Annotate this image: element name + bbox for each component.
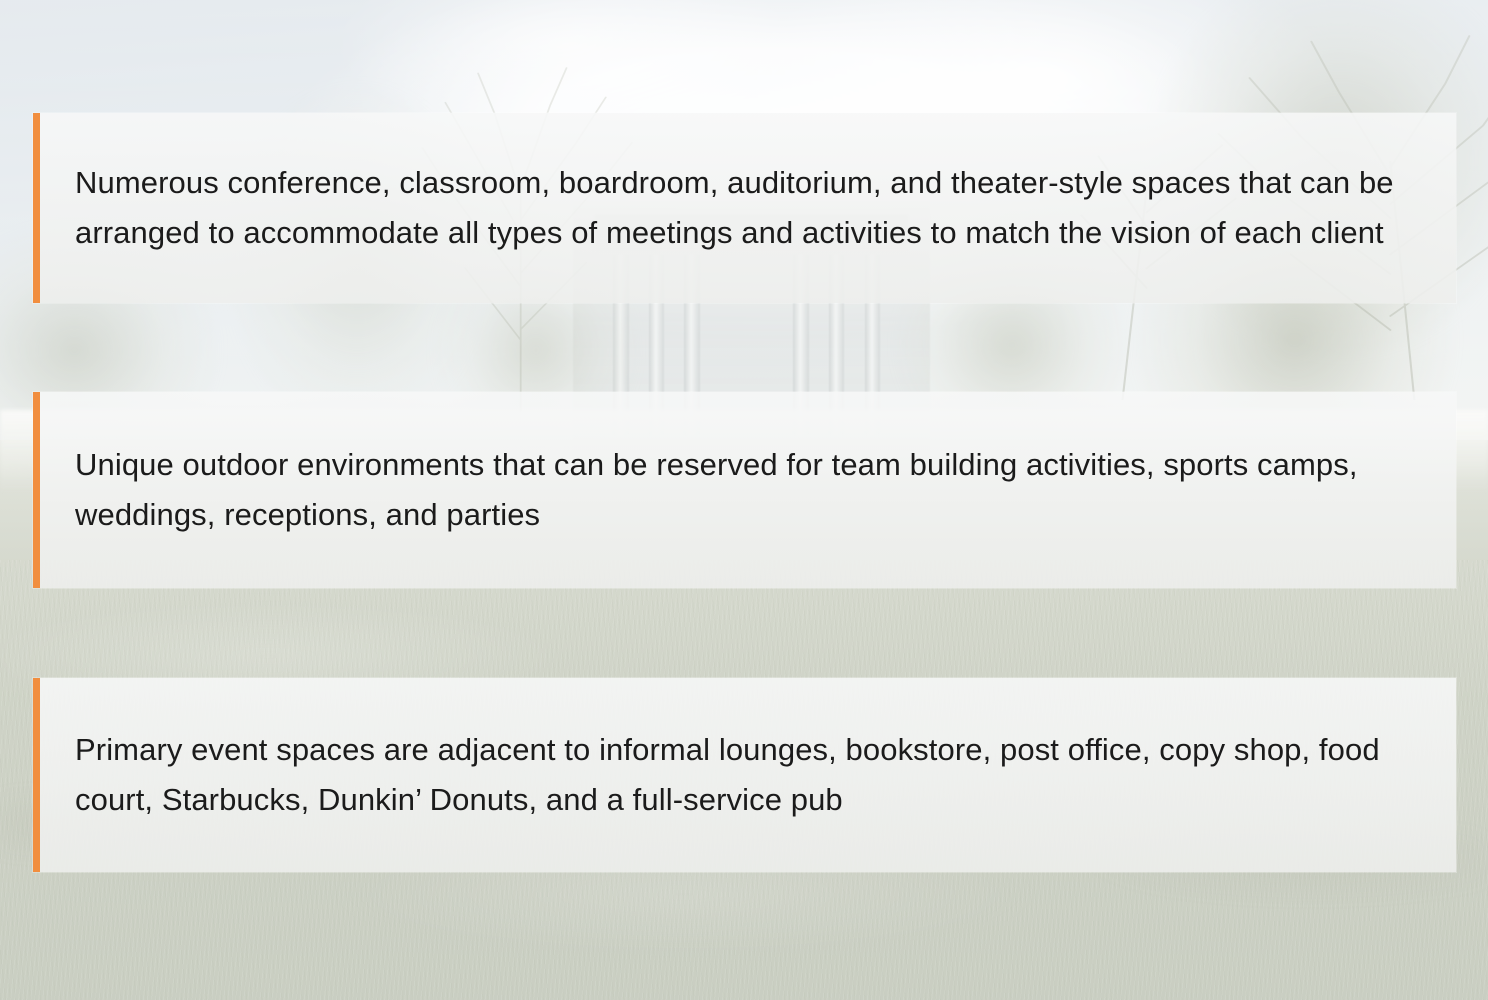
- feature-card-outdoor-environments: Unique outdoor environments that can be …: [33, 392, 1456, 588]
- accent-bar: [33, 113, 40, 303]
- feature-card-adjacent-amenities: Primary event spaces are adjacent to inf…: [33, 678, 1456, 872]
- card-text: Numerous conference, classroom, boardroo…: [75, 158, 1456, 258]
- presentation-slide: Numerous conference, classroom, boardroo…: [0, 0, 1488, 1000]
- card-body: Primary event spaces are adjacent to inf…: [40, 678, 1456, 872]
- feature-card-conference-spaces: Numerous conference, classroom, boardroo…: [33, 113, 1456, 303]
- card-text: Unique outdoor environments that can be …: [75, 440, 1456, 540]
- accent-bar: [33, 392, 40, 588]
- card-body: Unique outdoor environments that can be …: [40, 392, 1456, 588]
- card-text: Primary event spaces are adjacent to inf…: [75, 725, 1456, 825]
- card-body: Numerous conference, classroom, boardroo…: [40, 113, 1456, 303]
- accent-bar: [33, 678, 40, 872]
